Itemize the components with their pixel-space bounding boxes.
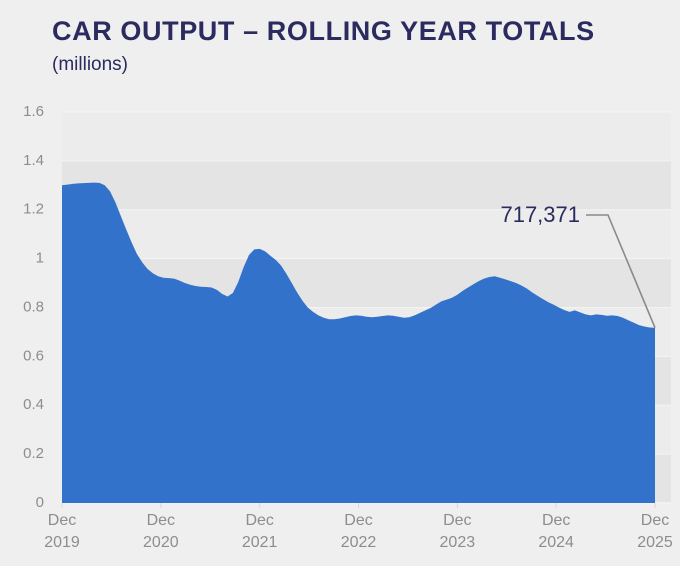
x-tick-label-month: Dec: [48, 512, 76, 529]
x-tick-label-year: 2022: [341, 534, 377, 551]
x-tick-label-month: Dec: [344, 512, 372, 529]
y-tick-label: 0: [36, 494, 44, 511]
background-band: [62, 112, 671, 161]
x-tick-label-month: Dec: [542, 512, 570, 529]
y-tick-label: 0.8: [23, 298, 44, 315]
y-tick-label: 0.6: [23, 347, 44, 364]
y-tick-label: 1.2: [23, 201, 44, 218]
annotation-label: 717,371: [500, 202, 580, 227]
x-tick-label-year: 2021: [242, 534, 278, 551]
y-tick-label: 1: [36, 250, 44, 267]
x-tick-label-month: Dec: [147, 512, 175, 529]
x-tick-label-year: 2025: [637, 534, 673, 551]
x-tick-label-month: Dec: [443, 512, 471, 529]
x-tick-label-year: 2020: [143, 534, 179, 551]
x-tick-label-month: Dec: [641, 512, 669, 529]
x-axis-ticks: Dec2019Dec2020Dec2021Dec2022Dec2023Dec20…: [44, 503, 673, 551]
plot-area: 00.20.40.60.811.21.41.6 Dec2019Dec2020De…: [0, 0, 680, 566]
x-tick-label-year: 2019: [44, 534, 80, 551]
chart-figure: CAR OUTPUT – ROLLING YEAR TOTALS (millio…: [0, 0, 680, 566]
x-tick-label-year: 2024: [538, 534, 574, 551]
y-axis-ticks: 00.20.40.60.811.21.41.6: [23, 103, 44, 511]
y-tick-label: 1.4: [23, 152, 44, 169]
y-tick-label: 1.6: [23, 103, 44, 120]
x-tick-label-month: Dec: [245, 512, 273, 529]
y-tick-label: 0.2: [23, 445, 44, 462]
y-tick-label: 0.4: [23, 396, 44, 413]
x-tick-label-year: 2023: [440, 534, 476, 551]
